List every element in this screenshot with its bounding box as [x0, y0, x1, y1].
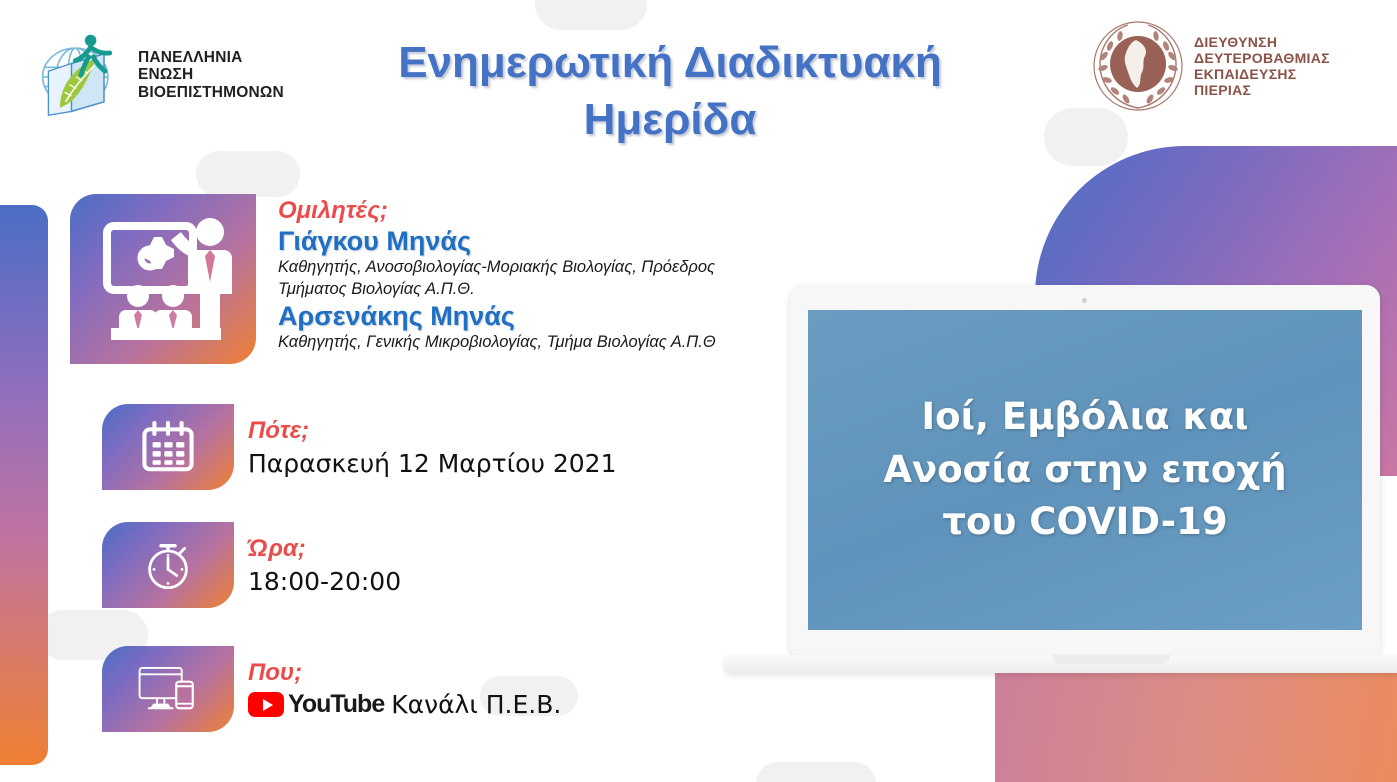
pev-logo-line-1: ΠΑΝΕΛΛΗΝΙΑ [138, 49, 284, 67]
speakers-text: Ομιλητές; Γιάγκου Μηνάς Καθηγητής, Ανοσο… [256, 194, 716, 364]
where-row: Που; YouTube Κανάλι Π.Ε.Β. [102, 646, 561, 732]
dide-pierias-logo: ΔΙΕΥΘΥΝΣΗ ΔΕΥΤΕΡΟΒΑΘΜΙΑΣ ΕΚΠΑΙΔΕΥΣΗΣ ΠΙΕ… [1092, 18, 1384, 114]
when-text: Πότε; Παρασκευή 12 Μαρτίου 2021 [234, 404, 617, 490]
devices-icon [135, 663, 201, 715]
time-text: Ώρα; 18:00-20:00 [234, 522, 401, 608]
speaker-name: Αρσενάκης Μηνάς [278, 301, 716, 332]
time-tile [102, 522, 234, 608]
speakers-tile [70, 194, 256, 364]
laptop-screen: Ιοί, Εμβόλια και Ανοσία στην εποχή του C… [808, 310, 1362, 630]
pev-logo-text: ΠΑΝΕΛΛΗΝΙΑ ΕΝΩΣΗ ΒΙΟΕΠΙΣΤΗΜΟΝΩΝ [138, 49, 284, 102]
when-row: Πότε; Παρασκευή 12 Μαρτίου 2021 [102, 404, 617, 490]
time-value: 18:00-20:00 [248, 566, 401, 597]
poster-canvas: ΠΑΝΕΛΛΗΝΙΑ ΕΝΩΣΗ ΒΙΟΕΠΙΣΤΗΜΟΝΩΝ Ενημερωτ… [0, 0, 1397, 782]
time-label: Ώρα; [248, 536, 401, 562]
youtube-icon[interactable]: YouTube [248, 690, 384, 719]
stopwatch-icon [140, 537, 196, 593]
speakers-row: Ομιλητές; Γιάγκου Μηνάς Καθηγητής, Ανοσο… [70, 194, 716, 364]
laptop-lid: Ιοί, Εμβόλια και Ανοσία στην εποχή του C… [790, 285, 1380, 660]
speaker-affiliation: Καθηγητής, Γενικής Μικροβιολογίας, Τμήμα… [278, 332, 716, 353]
laptop-icon: Ιοί, Εμβόλια και Ανοσία στην εποχή του C… [790, 285, 1380, 675]
time-row: Ώρα; 18:00-20:00 [102, 522, 401, 608]
dide-logo-line-3: ΕΚΠΑΙΔΕΥΣΗΣ [1194, 66, 1330, 82]
when-value: Παρασκευή 12 Μαρτίου 2021 [248, 448, 617, 479]
speaker-affiliation: Καθηγητής, Ανοσοβιολογίας-Μοριακής Βιολο… [278, 257, 716, 278]
deco-shape-5 [756, 762, 876, 782]
pev-logo-line-3: ΒΙΟΕΠΙΣΤΗΜΟΝΩΝ [138, 84, 284, 102]
laptop-notch [1052, 655, 1170, 664]
speaker-affiliation-cont: Τμήματος Βιολογίας Α.Π.Θ. [278, 279, 716, 300]
speakers-label: Ομιλητές; [278, 198, 716, 224]
when-tile [102, 404, 234, 490]
presentation-title: Ιοί, Εμβόλια και Ανοσία στην εποχή του C… [808, 391, 1362, 549]
panellinia-enosi-vioepistimonon-logo: ΠΑΝΕΛΛΗΝΙΑ ΕΝΩΣΗ ΒΙΟΕΠΙΣΤΗΜΟΝΩΝ [32, 26, 302, 124]
deco-shape-2 [196, 151, 300, 197]
presentation-icon [93, 214, 233, 344]
pev-emblem-icon [32, 29, 130, 121]
dide-logo-line-2: ΔΕΥΤΕΡΟΒΑΘΜΙΑΣ [1194, 50, 1330, 66]
page-title: Ενημερωτική Διαδικτυακή Ημερίδα [330, 34, 1010, 148]
laurel-seal-icon [1092, 20, 1184, 112]
left-accent-bar [0, 205, 48, 765]
youtube-wordmark: YouTube [288, 690, 384, 719]
poster-header: ΠΑΝΕΛΛΗΝΙΑ ΕΝΩΣΗ ΒΙΟΕΠΙΣΤΗΜΟΝΩΝ Ενημερωτ… [0, 0, 1397, 150]
youtube-channel-line[interactable]: YouTube Κανάλι Π.Ε.Β. [248, 690, 561, 719]
calendar-icon [139, 420, 197, 475]
laptop-camera [1082, 298, 1087, 303]
pev-logo-line-2: ΕΝΩΣΗ [138, 66, 284, 84]
background-gradient-block [995, 668, 1397, 782]
dide-logo-line-4: ΠΙΕΡΙΑΣ [1194, 82, 1330, 98]
speaker-item-1: Γιάγκου Μηνάς Καθηγητής, Ανοσοβιολογίας-… [278, 226, 716, 299]
speaker-item-2: Αρσενάκης Μηνάς Καθηγητής, Γενικής Μικρο… [278, 301, 716, 353]
where-tile [102, 646, 234, 732]
where-text: Που; YouTube Κανάλι Π.Ε.Β. [234, 646, 561, 732]
speaker-name: Γιάγκου Μηνάς [278, 226, 716, 257]
dide-logo-text: ΔΙΕΥΘΥΝΣΗ ΔΕΥΤΕΡΟΒΑΘΜΙΑΣ ΕΚΠΑΙΔΕΥΣΗΣ ΠΙΕ… [1194, 34, 1330, 99]
youtube-play-badge [248, 692, 284, 717]
when-label: Πότε; [248, 418, 617, 444]
youtube-channel-name: Κανάλι Π.Ε.Β. [391, 690, 561, 719]
dide-logo-line-1: ΔΙΕΥΘΥΝΣΗ [1194, 34, 1330, 50]
where-label: Που; [248, 660, 561, 686]
